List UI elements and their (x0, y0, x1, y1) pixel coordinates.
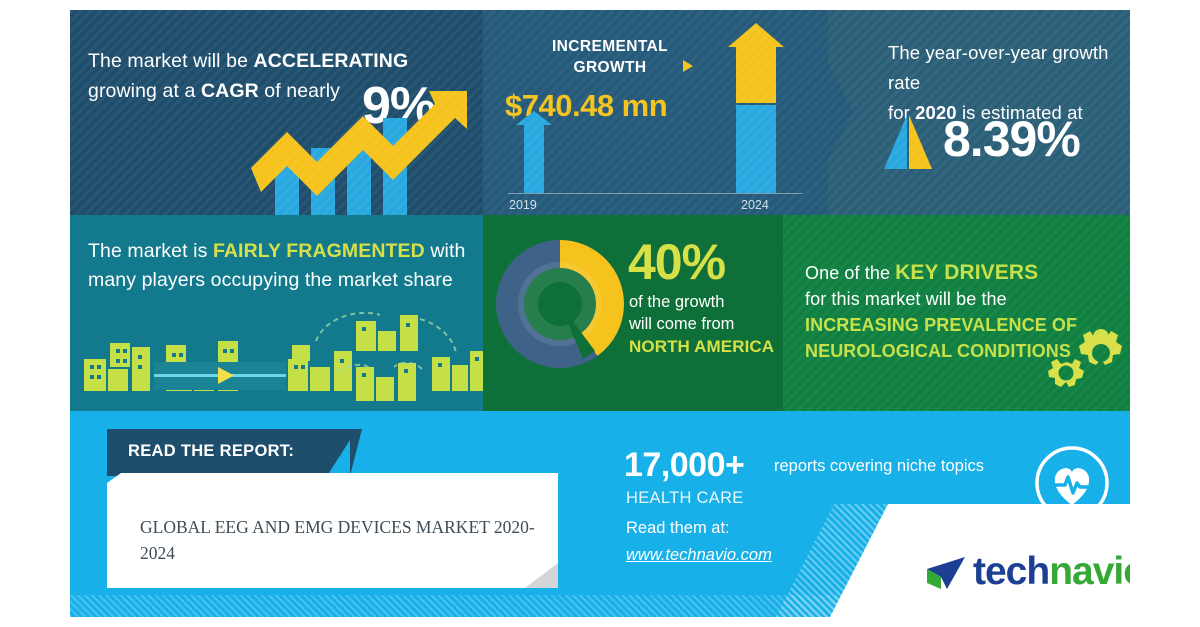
panel-region-share: 40% of the growth will come from NORTH A… (483, 215, 783, 411)
region-percent-value: 40% (628, 233, 725, 291)
drivers-line1-a: One of the (805, 263, 895, 283)
panel-cagr: The market will be ACCELERATING growing … (70, 10, 483, 215)
fragmented-text: The market is FAIRLY FRAGMENTED with man… (88, 237, 483, 295)
region-donut-chart (495, 239, 625, 369)
report-count-suffix: reports covering niche topics (774, 457, 984, 476)
panel-yoy-growth: The year-over-year growth rate for 2020 … (828, 10, 1130, 215)
read-report-tab-arrow (350, 429, 380, 476)
frag-line2: many players occupying the market share (88, 269, 453, 291)
report-category: HEALTH CARE (626, 489, 744, 508)
incremental-bars-chart (508, 15, 808, 195)
logo-text-tech: tech (973, 550, 1049, 593)
yoy-line1: The year-over-year growth rate (888, 42, 1108, 93)
report-title: GLOBAL EEG AND EMG DEVICES MARKET 2020-2… (140, 514, 540, 566)
cagr-line2-a: growing at a (88, 80, 201, 102)
yoy-value: 8.39% (943, 110, 1080, 168)
axis-label-2024: 2024 (741, 198, 769, 212)
gears-icon (1041, 325, 1130, 407)
drivers-line3: INCREASING PREVALENCE OF (805, 315, 1077, 335)
logo-text-navio: navio (1049, 550, 1130, 593)
footer-bottom-texture (70, 595, 1130, 617)
growth-arrow-icon (245, 90, 483, 215)
drivers-line4: NEUROLOGICAL CONDITIONS (805, 341, 1071, 361)
panel-fragmented: The market is FAIRLY FRAGMENTED with man… (70, 215, 483, 411)
region-line1: of the growth (629, 293, 724, 312)
drivers-line1-b: KEY DRIVERS (895, 261, 1038, 284)
infographic-canvas: The market will be ACCELERATING growing … (0, 0, 1200, 627)
frag-line1-c: with (425, 240, 466, 262)
read-report-label: READ THE REPORT: (128, 442, 294, 461)
axis-label-2019: 2019 (509, 198, 537, 212)
panel-key-drivers: One of the KEY DRIVERS for this market w… (783, 215, 1130, 411)
panel-incremental-growth: INCREMENTAL GROWTH $740.48 mn 2019 2024 (483, 10, 828, 215)
infographic-board: The market will be ACCELERATING growing … (70, 10, 1130, 617)
technavio-logo[interactable]: technavio (927, 550, 1130, 594)
report-count: 17,000+ (624, 446, 744, 485)
frag-line1-a: The market is (88, 240, 213, 262)
frag-line1-b: FAIRLY FRAGMENTED (213, 240, 425, 262)
read-them-at-label: Read them at: (626, 519, 730, 538)
city-buildings-icon (70, 307, 483, 411)
incremental-axis-line (508, 193, 803, 194)
technavio-arrow-icon (925, 555, 969, 595)
panel-chevron-notch (828, 62, 853, 162)
triangle-growth-icon (876, 113, 946, 171)
region-line2: will come from (629, 315, 734, 334)
cagr-line1-b: ACCELERATING (254, 50, 409, 72)
drivers-line2: for this market will be the (805, 289, 1007, 309)
technavio-url-link[interactable]: www.technavio.com (626, 546, 772, 565)
cagr-line1-a: The market will be (88, 50, 254, 72)
region-line3: NORTH AMERICA (629, 337, 774, 357)
